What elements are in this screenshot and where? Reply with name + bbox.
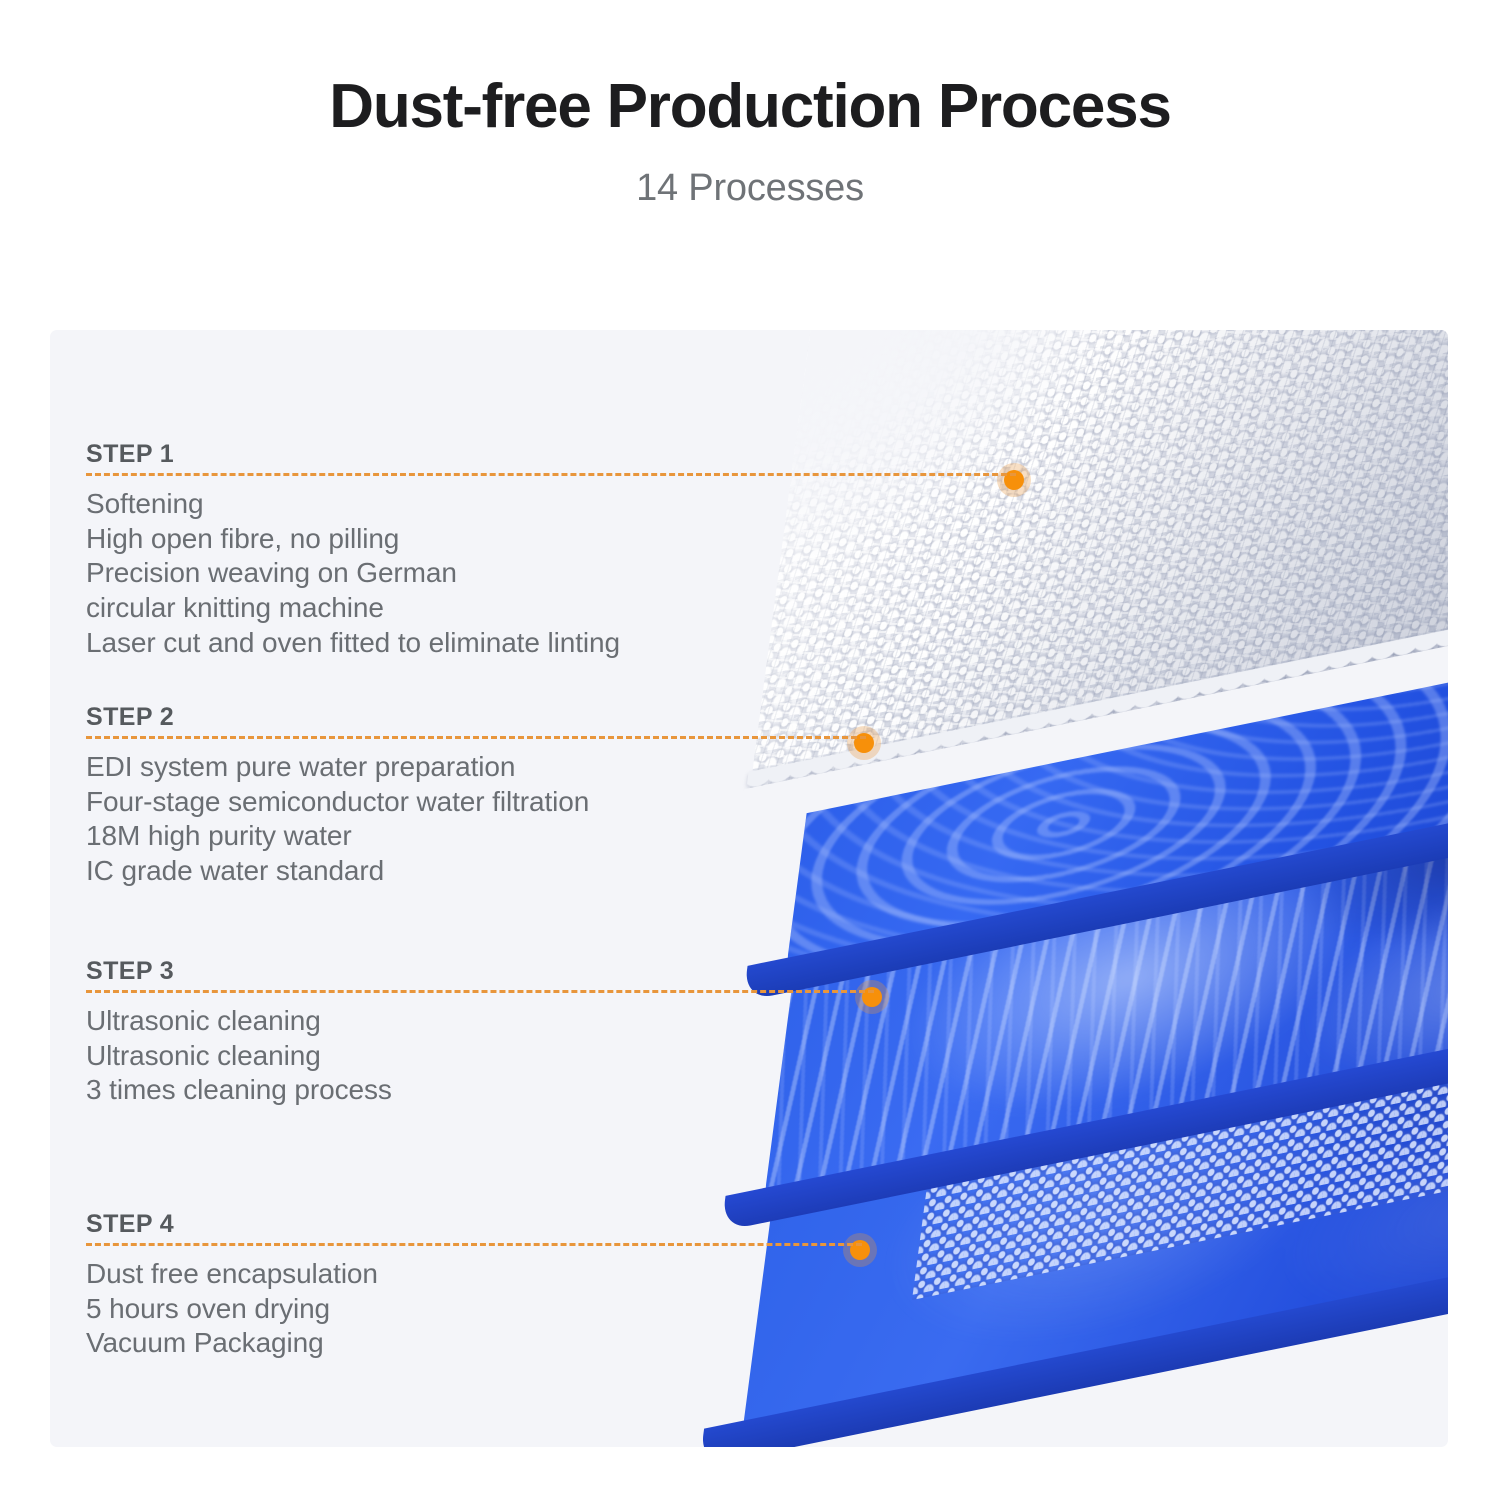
diagram-panel: STEP 1 Softening High open fibre, no pil… bbox=[50, 330, 1448, 1447]
step-2-line-1: EDI system pure water preparation bbox=[86, 750, 1086, 785]
step-3-dash-line bbox=[86, 990, 874, 993]
step-4-line-3: Vacuum Packaging bbox=[86, 1326, 1086, 1361]
callout-step-2: STEP 2 EDI system pure water preparation… bbox=[86, 705, 1086, 889]
step-2-lines: EDI system pure water preparation Four-s… bbox=[86, 750, 1086, 889]
step-3-label: STEP 3 bbox=[86, 959, 1086, 984]
step-4-dash-line bbox=[86, 1243, 862, 1246]
step-1-line-3: Precision weaving on German bbox=[86, 556, 1086, 591]
step-4-line-1: Dust free encapsulation bbox=[86, 1257, 1086, 1292]
step-1-line-1: Softening bbox=[86, 487, 1086, 522]
step-1-label: STEP 1 bbox=[86, 442, 1086, 467]
callout-step-3: STEP 3 Ultrasonic cleaning Ultrasonic cl… bbox=[86, 959, 1086, 1108]
step-1-lines: Softening High open fibre, no pilling Pr… bbox=[86, 487, 1086, 661]
step-2-line-2: Four-stage semiconductor water filtratio… bbox=[86, 785, 1086, 820]
callout-step-4: STEP 4 Dust free encapsulation 5 hours o… bbox=[86, 1212, 1086, 1361]
step-3-line-3: 3 times cleaning process bbox=[86, 1073, 1086, 1108]
step-4-label: STEP 4 bbox=[86, 1212, 1086, 1237]
step-3-lines: Ultrasonic cleaning Ultrasonic cleaning … bbox=[86, 1004, 1086, 1108]
page-header: Dust-free Production Process 14 Processe… bbox=[0, 0, 1500, 210]
step-1-line-2: High open fibre, no pilling bbox=[86, 522, 1086, 557]
step-4-line-2: 5 hours oven drying bbox=[86, 1292, 1086, 1327]
step-3-line-2: Ultrasonic cleaning bbox=[86, 1039, 1086, 1074]
step-2-line-3: 18M high purity water bbox=[86, 819, 1086, 854]
page-title: Dust-free Production Process bbox=[0, 72, 1500, 141]
page-subtitle: 14 Processes bbox=[0, 167, 1500, 210]
step-2-dash-line bbox=[86, 736, 866, 739]
step-3-line-1: Ultrasonic cleaning bbox=[86, 1004, 1086, 1039]
step-1-line-4: circular knitting machine bbox=[86, 591, 1086, 626]
callout-step-1: STEP 1 Softening High open fibre, no pil… bbox=[86, 442, 1086, 661]
step-1-dash-line bbox=[86, 473, 1016, 476]
step-2-label: STEP 2 bbox=[86, 705, 1086, 730]
step-4-lines: Dust free encapsulation 5 hours oven dry… bbox=[86, 1257, 1086, 1361]
step-2-line-4: IC grade water standard bbox=[86, 854, 1086, 889]
step-1-line-5: Laser cut and oven fitted to eliminate l… bbox=[86, 626, 1086, 661]
